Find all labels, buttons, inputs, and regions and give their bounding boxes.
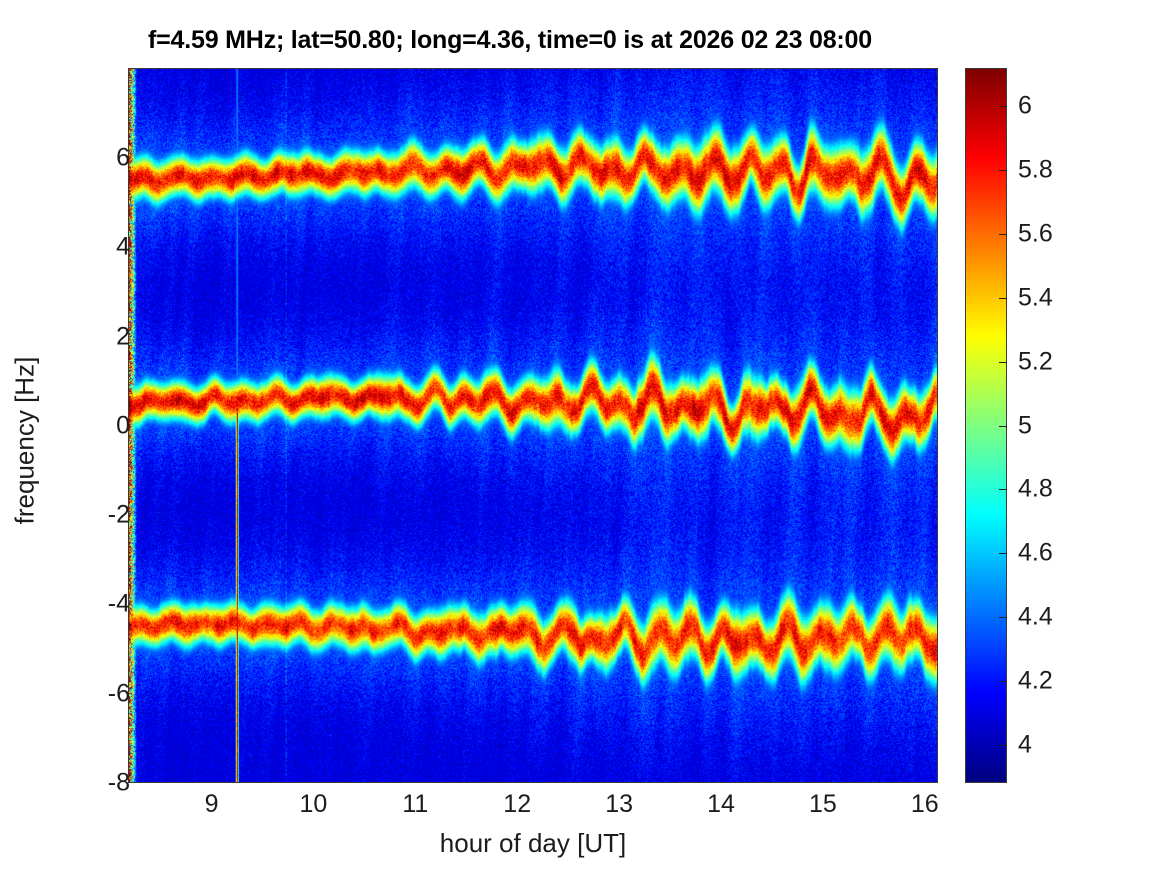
colorbar-tick: 4.2: [1018, 666, 1053, 695]
y-axis-tick: 4: [116, 233, 130, 262]
colorbar-tick: 4.6: [1018, 539, 1053, 568]
colorbar-tick: 5.6: [1018, 219, 1053, 248]
spectrogram-plot-area[interactable]: [128, 68, 938, 783]
x-axis-tick: 11: [402, 790, 428, 819]
x-axis-tick: 14: [707, 790, 735, 819]
y-axis-tick: -8: [108, 769, 130, 798]
y-axis-tick: -6: [108, 679, 130, 708]
x-axis-tick: 9: [205, 790, 219, 819]
x-axis-tick: 15: [809, 790, 837, 819]
colorbar-tick: 5.8: [1018, 156, 1053, 185]
spectrogram-image: [129, 69, 937, 782]
y-axis-tick: 2: [116, 322, 130, 351]
y-axis-tick: -2: [108, 501, 130, 530]
x-axis-tick: 13: [605, 790, 633, 819]
x-axis-tick: 16: [911, 790, 939, 819]
colorbar-tick-mark: [999, 617, 1007, 618]
colorbar-tick-mark: [999, 362, 1007, 363]
colorbar-tick-mark: [999, 681, 1007, 682]
colorbar-tick-mark: [999, 234, 1007, 235]
y-axis-tick: 0: [116, 411, 130, 440]
colorbar-tick-mark: [999, 745, 1007, 746]
colorbar-tick-mark: [999, 426, 1007, 427]
figure-title: f=4.59 MHz; lat=50.80; long=4.36, time=0…: [0, 26, 1020, 55]
colorbar-tick: 4.4: [1018, 603, 1053, 632]
colorbar-tick-mark: [999, 489, 1007, 490]
x-axis-label: hour of day [UT]: [128, 828, 938, 859]
x-axis-tick: 12: [503, 790, 531, 819]
colorbar-tick-mark: [999, 553, 1007, 554]
y-axis-label: frequency [Hz]: [10, 211, 41, 671]
y-axis-tick: 6: [116, 144, 130, 173]
colorbar-tick-mark: [999, 106, 1007, 107]
colorbar-tick-mark: [999, 170, 1007, 171]
colorbar-tick: 5.2: [1018, 347, 1053, 376]
colorbar-tick: 4: [1018, 730, 1032, 759]
colorbar-tick: 6: [1018, 92, 1032, 121]
colorbar-tick: 5.4: [1018, 283, 1053, 312]
spectrogram-figure: f=4.59 MHz; lat=50.80; long=4.36, time=0…: [0, 0, 1167, 875]
x-axis-tick: 10: [300, 790, 328, 819]
colorbar-tick: 5: [1018, 411, 1032, 440]
y-axis-tick: -4: [108, 590, 130, 619]
colorbar-tick: 4.8: [1018, 475, 1053, 504]
colorbar-tick-mark: [999, 298, 1007, 299]
